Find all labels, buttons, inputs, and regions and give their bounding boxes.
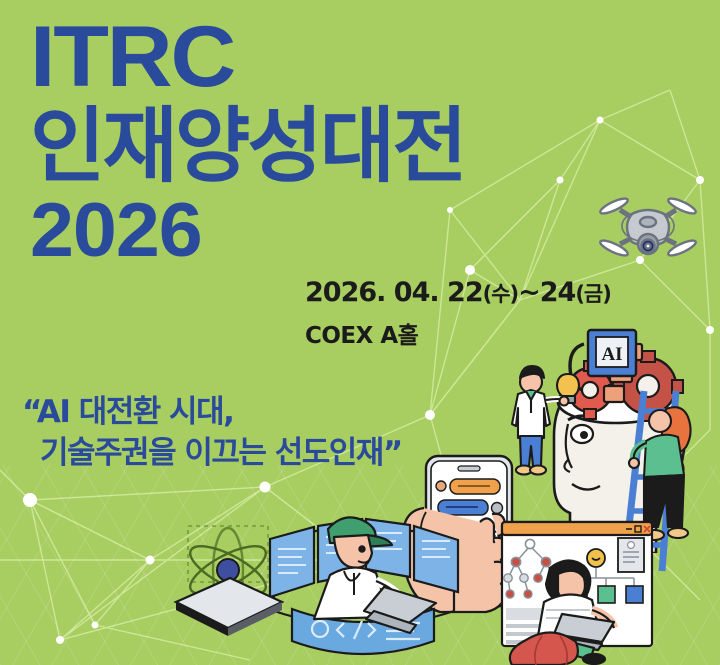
event-date-weekday-open: (수) bbox=[483, 282, 519, 306]
analyst-dashboard-illustration bbox=[498, 514, 698, 665]
quantum-chip-icon bbox=[152, 516, 292, 646]
poster-canvas: ITRC 인재양성대전 2026 2026. 04. 22(수)~24(금) C… bbox=[0, 0, 720, 665]
event-venue: COEX A홀 bbox=[305, 316, 611, 350]
brand-title: ITRC bbox=[30, 18, 491, 97]
drone-icon bbox=[592, 186, 704, 270]
tagline-line-1: “AI 대전환 시대, bbox=[22, 392, 402, 433]
event-date: 2026. 04. 22(수)~24(금) bbox=[305, 278, 611, 308]
korean-title: 인재양성대전 bbox=[30, 105, 465, 189]
year-title: 2026 bbox=[30, 193, 482, 269]
headline-block: ITRC 인재양성대전 2026 bbox=[30, 18, 465, 269]
event-date-weekday-close: (금) bbox=[575, 282, 611, 306]
event-info-block: 2026. 04. 22(수)~24(금) COEX A홀 bbox=[305, 278, 611, 350]
tagline-line-2: 기술주권을 이끄는 선도인재” bbox=[22, 433, 402, 474]
sweater bbox=[644, 435, 684, 477]
event-date-text: 2026. 04. 22 bbox=[305, 277, 483, 308]
shoe bbox=[583, 654, 605, 664]
event-date-range: ~24 bbox=[518, 277, 575, 308]
tagline-block: “AI 대전환 시대, 기술주권을 이끄는 선도인재” bbox=[22, 392, 402, 474]
